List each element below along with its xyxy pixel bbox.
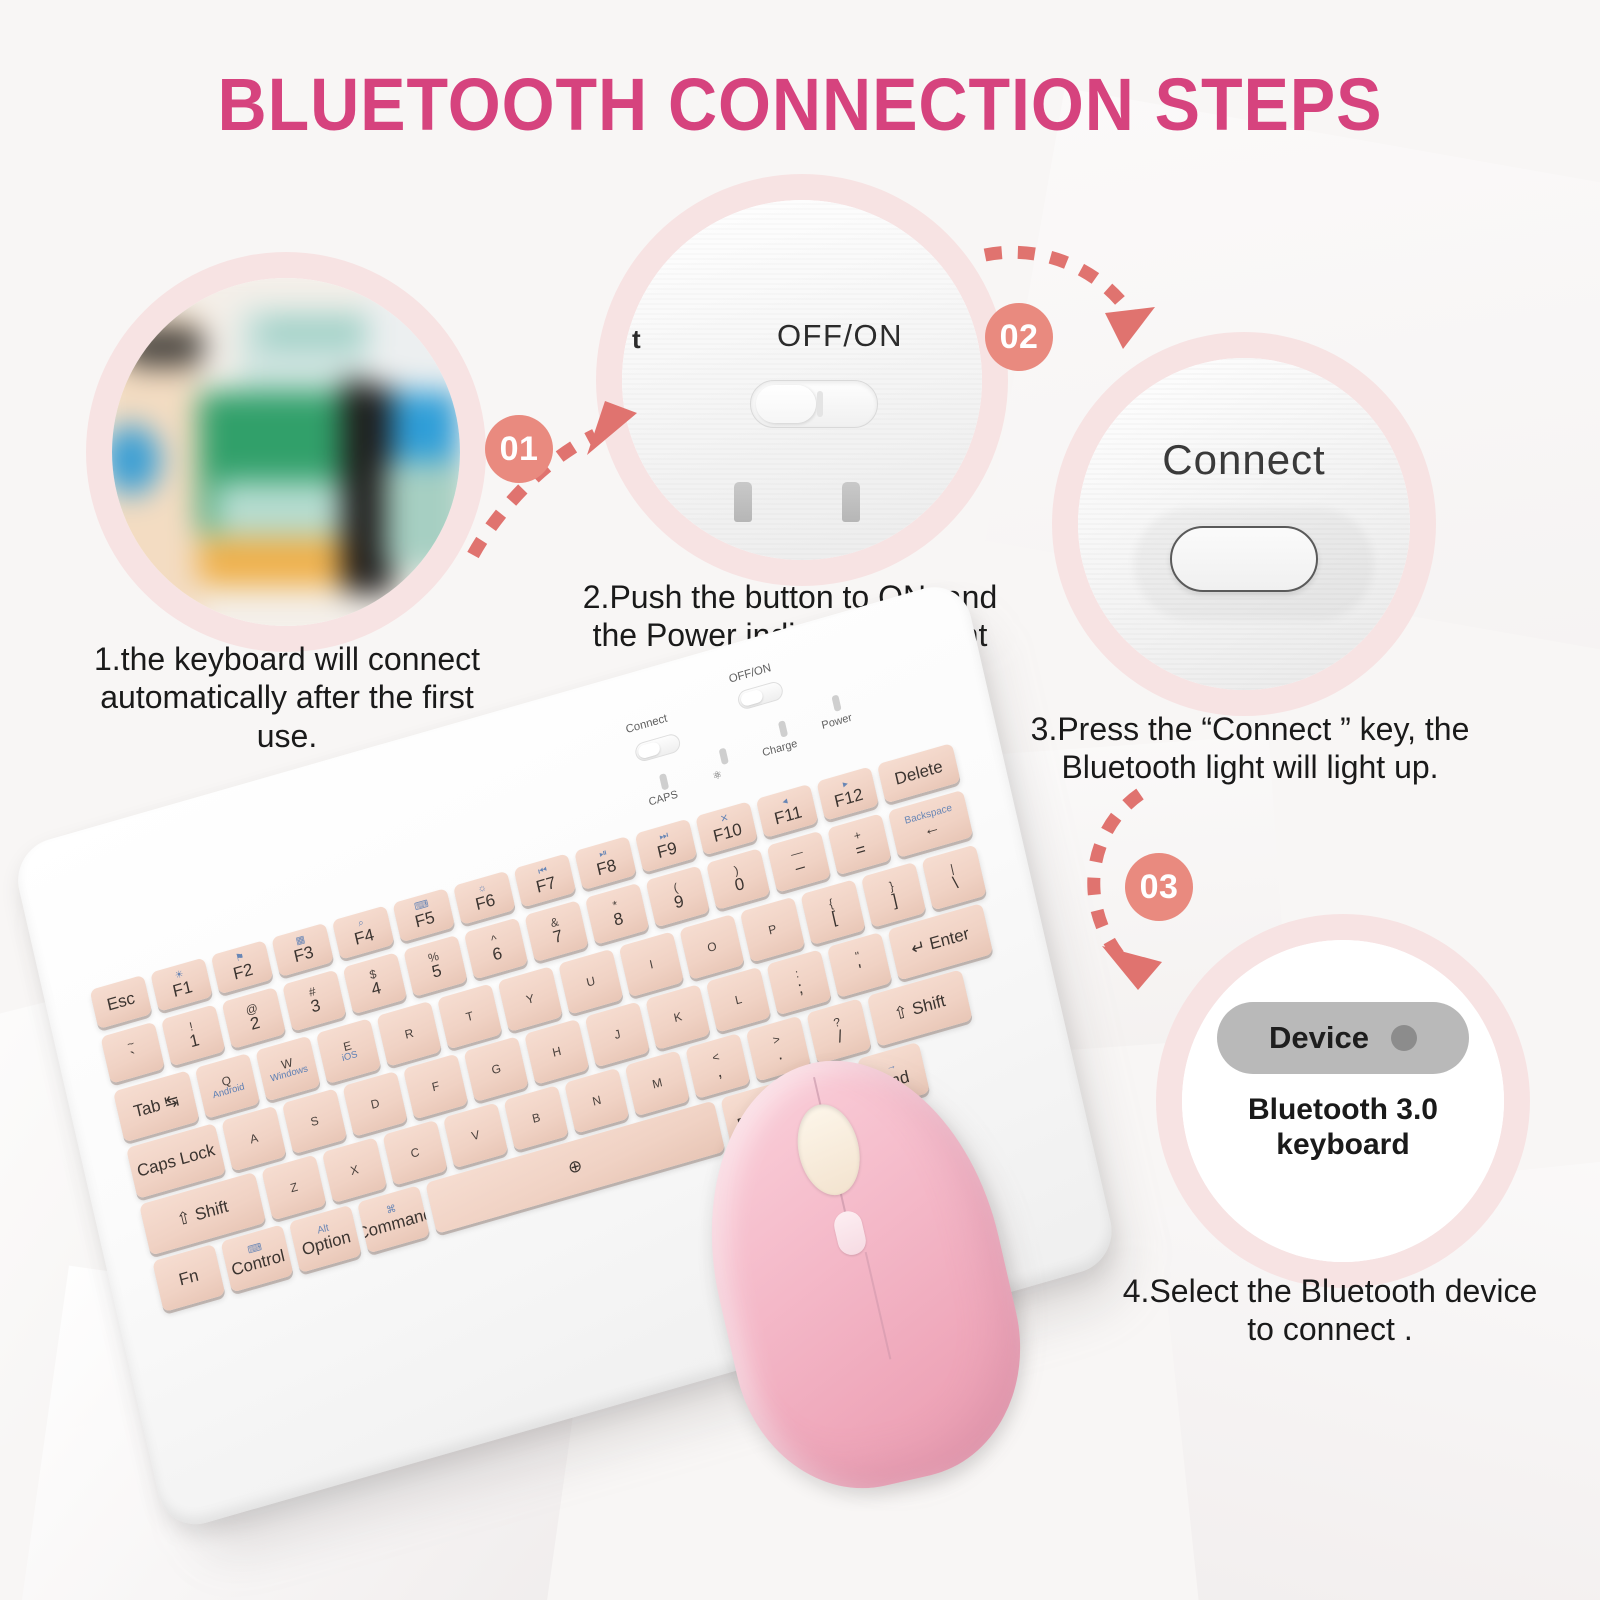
- key-legend-top: L: [734, 993, 743, 1007]
- key-legend-main: 7: [551, 927, 564, 947]
- step-4-caption: 4.Select the Bluetooth device to connect…: [1120, 1272, 1540, 1349]
- bluetooth-led: [719, 748, 729, 766]
- key-legend-main: Tab ↹: [132, 1091, 181, 1121]
- key-legend-top: A: [249, 1131, 260, 1145]
- key-legend-main: –: [794, 858, 807, 878]
- key-legend-main: 1: [188, 1031, 201, 1051]
- key-legend-top: O: [706, 940, 718, 955]
- key-legend-top: ": [854, 950, 861, 963]
- key-fn[interactable]: Fn: [152, 1244, 225, 1312]
- key-legend-main: F6: [474, 891, 497, 914]
- key-p[interactable]: P: [740, 897, 806, 963]
- key-legend-top: Y: [525, 992, 536, 1006]
- key-legend-top: ?: [832, 1015, 841, 1029]
- blurred-product-photo: [112, 278, 460, 626]
- key-legend-top: R: [404, 1026, 415, 1041]
- caps-led: [659, 773, 669, 791]
- key-legend-main: 2: [249, 1014, 262, 1034]
- key-legend-top: }: [888, 879, 895, 892]
- key-legend-main: ⇧ Shift: [892, 992, 947, 1024]
- key-legend-main: F9: [656, 839, 679, 862]
- key-legend-top: P: [767, 922, 778, 936]
- key-legend-main: .: [776, 1045, 785, 1064]
- key-legend-main: Caps Lock: [135, 1141, 216, 1181]
- key-legend-main: F7: [535, 874, 558, 897]
- key-legend-main: ;: [796, 979, 805, 998]
- offon-label: OFF/ON: [710, 318, 970, 354]
- key-legend-top: |: [949, 862, 955, 875]
- power-switch-knob[interactable]: [740, 688, 764, 707]
- mouse-seam: [865, 1252, 892, 1360]
- key-key[interactable]: {[: [800, 879, 866, 945]
- key-e[interactable]: EiOS: [316, 1018, 382, 1084]
- indicator-pin: [842, 482, 860, 522]
- power-switch[interactable]: [750, 380, 878, 428]
- key-6[interactable]: ^6: [464, 917, 529, 979]
- key-legend-top: J: [613, 1027, 622, 1041]
- step-3-caption: 3.Press the “Connect ” key, the Bluetoot…: [1015, 710, 1485, 787]
- key-legend-main: 5: [430, 962, 443, 982]
- device-name: Bluetooth 3.0 keyboard: [1182, 1092, 1504, 1163]
- key-key[interactable]: +=: [827, 813, 892, 875]
- keyboard-offon-label: OFF/ON: [728, 662, 772, 686]
- key-legend-main: Fn: [177, 1267, 200, 1290]
- key-legend-top: >: [772, 1033, 782, 1047]
- key-legend-main: ,: [715, 1063, 724, 1082]
- key-legend-main: 8: [612, 910, 625, 930]
- key-option[interactable]: AltOption: [289, 1205, 362, 1273]
- indicator-pin: [734, 482, 752, 522]
- step-3-connect-circle: Connect: [1078, 358, 1410, 690]
- switch-nub: [817, 391, 823, 417]
- key-legend-top: K: [673, 1010, 684, 1024]
- key-legend-top: !: [188, 1020, 194, 1033]
- key-legend-main: Esc: [105, 989, 136, 1014]
- key-legend-top: F: [431, 1079, 441, 1093]
- key-legend-top: ): [733, 864, 740, 877]
- key-legend-top: G: [490, 1062, 502, 1077]
- step-badge-02: 02: [985, 303, 1053, 371]
- key-legend-main: 0: [733, 875, 746, 895]
- arrow-step-1-to-2: [455, 395, 645, 575]
- key-9[interactable]: (9: [645, 865, 710, 927]
- key-s[interactable]: S: [282, 1088, 348, 1154]
- key-x[interactable]: X: [322, 1137, 388, 1203]
- key-legend-main: ': [857, 962, 864, 980]
- key-legend-main: [: [830, 909, 839, 928]
- key-legend-top: M: [651, 1076, 663, 1091]
- key-legend-top: <: [711, 1050, 721, 1064]
- key-r[interactable]: R: [376, 1001, 442, 1067]
- key-w[interactable]: WWindows: [255, 1035, 321, 1101]
- keyboard-power-switch[interactable]: [736, 680, 784, 711]
- key-c[interactable]: C: [382, 1120, 448, 1186]
- key-legend-main: \: [951, 874, 960, 893]
- step-2-switch-circle: t OFF/ON: [622, 200, 982, 560]
- key-command[interactable]: ⌘Command: [357, 1185, 430, 1253]
- key-key[interactable]: :;: [766, 949, 832, 1015]
- key-legend-top: *: [611, 898, 618, 912]
- key-legend-top: C: [409, 1145, 420, 1160]
- page-title: BLUETOOTH CONNECTION STEPS: [64, 62, 1536, 147]
- key-legend-main: `: [129, 1049, 138, 1068]
- key-legend-top: Z: [289, 1180, 299, 1194]
- key-k[interactable]: K: [645, 984, 711, 1050]
- key-v[interactable]: V: [443, 1102, 509, 1168]
- key-legend-top: @: [245, 1001, 260, 1017]
- infographic-page: BLUETOOTH CONNECTION STEPS t OFF/ON: [0, 0, 1600, 1600]
- key-0[interactable]: )0: [706, 848, 771, 910]
- key-legend-top: B: [531, 1111, 542, 1125]
- device-row[interactable]: Device: [1217, 1002, 1469, 1074]
- key-legend-top: (: [672, 881, 679, 894]
- key-legend-top: —: [790, 845, 804, 861]
- key-8[interactable]: *8: [585, 883, 650, 945]
- key-legend-top: ✕: [719, 813, 729, 826]
- key-legend-main: F3: [292, 944, 315, 967]
- charge-led: [778, 720, 788, 738]
- key-legend-main: F10: [712, 821, 744, 846]
- key-legend-main: F4: [353, 926, 376, 949]
- key-d[interactable]: D: [342, 1071, 408, 1137]
- device-name-line1: Bluetooth 3.0: [1248, 1093, 1438, 1126]
- bluetooth-icon: ⚛: [711, 768, 723, 783]
- key-legend-top: D: [369, 1097, 380, 1112]
- key-legend-main: Delete: [893, 758, 944, 789]
- key-t[interactable]: T: [437, 983, 503, 1049]
- keyboard-connect-label: Connect: [625, 713, 669, 737]
- key-legend-top: S: [309, 1114, 320, 1128]
- key-legend-top: ▸: [842, 779, 849, 791]
- key-legend-main: F1: [171, 978, 194, 1001]
- step-badge-01: 01: [485, 415, 553, 483]
- scroll-wheel[interactable]: [789, 1098, 868, 1201]
- key-legend-top: W: [280, 1056, 294, 1071]
- key-legend-top: ~: [126, 1037, 136, 1051]
- key-legend-top: ⌕: [357, 918, 365, 930]
- key-legend-top: I: [648, 958, 654, 971]
- dpi-button[interactable]: [831, 1209, 868, 1258]
- step-1-photo-circle: [112, 278, 460, 626]
- charge-label: Charge: [761, 738, 798, 760]
- key-j[interactable]: J: [585, 1001, 651, 1067]
- key-key[interactable]: ~`: [100, 1022, 165, 1084]
- key-legend-main: /: [836, 1028, 845, 1047]
- key-control[interactable]: ⌨Control: [220, 1224, 293, 1292]
- switch-knob[interactable]: [756, 385, 816, 423]
- power-label: Power: [820, 712, 853, 732]
- key-legend-main: ↵ Enter: [910, 925, 971, 959]
- keyboard-connect-key[interactable]: [633, 732, 681, 763]
- key-4[interactable]: $4: [343, 952, 408, 1014]
- key-2[interactable]: @2: [221, 987, 286, 1049]
- key-legend-top: $: [368, 967, 377, 981]
- connect-label: Connect: [1078, 436, 1410, 484]
- key-legend-main: F2: [232, 961, 255, 984]
- key-key[interactable]: }]: [861, 862, 927, 928]
- key-3[interactable]: #3: [282, 969, 347, 1031]
- key-legend-top: V: [470, 1128, 481, 1142]
- key-legend-main: ]: [891, 892, 900, 911]
- key-y[interactable]: Y: [497, 966, 563, 1032]
- key-u[interactable]: U: [558, 949, 624, 1015]
- key-legend-top: H: [551, 1044, 562, 1059]
- key-n[interactable]: N: [564, 1068, 630, 1134]
- key-7[interactable]: &7: [524, 900, 589, 962]
- key-g[interactable]: G: [463, 1036, 529, 1102]
- step-badge-03: 03: [1125, 853, 1193, 921]
- key-legend-top: N: [591, 1093, 602, 1108]
- key-a[interactable]: A: [221, 1106, 287, 1172]
- key-legend-top: E: [342, 1039, 353, 1053]
- key-key[interactable]: "': [827, 932, 893, 998]
- device-label: Device: [1269, 1020, 1369, 1056]
- key-legend-main: 3: [309, 997, 322, 1017]
- connect-key-cap[interactable]: [637, 741, 661, 760]
- arrow-head: [1105, 307, 1155, 349]
- device-status-dot: [1391, 1025, 1417, 1051]
- key-z[interactable]: Z: [261, 1154, 327, 1220]
- key-legend-main: F11: [773, 804, 804, 829]
- device-name-line2: keyboard: [1276, 1128, 1409, 1161]
- key-legend-top: &: [549, 915, 560, 929]
- key-o[interactable]: O: [679, 914, 745, 980]
- key-5[interactable]: %5: [403, 935, 468, 997]
- key-legend-top: {: [828, 897, 835, 910]
- power-led: [831, 694, 841, 712]
- key-legend-main: 4: [370, 979, 383, 999]
- key-l[interactable]: L: [706, 967, 772, 1033]
- key-legend-top: :: [794, 967, 800, 980]
- key-q[interactable]: QAndroid: [195, 1053, 261, 1119]
- key-legend-main: 6: [491, 945, 504, 965]
- key-legend-main: ⇧ Shift: [175, 1198, 230, 1230]
- key-legend-main: F8: [595, 857, 618, 880]
- key-1[interactable]: !1: [161, 1004, 226, 1066]
- connect-key-button[interactable]: [1170, 526, 1318, 592]
- key-legend-top: #: [308, 985, 317, 999]
- key-legend-main: =: [854, 840, 868, 860]
- key-legend-top: Q: [220, 1074, 232, 1089]
- key-f[interactable]: F: [403, 1053, 469, 1119]
- key-i[interactable]: I: [619, 931, 685, 997]
- arrow-head: [1102, 946, 1162, 990]
- key-legend-top: U: [585, 974, 596, 989]
- partial-text: t: [632, 324, 641, 355]
- key-key[interactable]: —–: [767, 831, 832, 893]
- key-legend-top: ^: [490, 933, 498, 947]
- key-legend-top: ⏯: [598, 848, 608, 860]
- key-legend-main: ⊕: [566, 1157, 584, 1178]
- key-legend-main: 9: [673, 893, 686, 913]
- key-legend-top: T: [465, 1009, 475, 1023]
- key-legend-top: ◂: [782, 796, 789, 808]
- key-key[interactable]: |\: [921, 844, 987, 910]
- key-legend-top: +: [853, 829, 863, 843]
- key-legend-top: %: [427, 950, 440, 965]
- key-b[interactable]: B: [503, 1085, 569, 1151]
- key-legend-top: X: [349, 1163, 360, 1177]
- key-h[interactable]: H: [524, 1019, 590, 1085]
- key-legend-main: F12: [833, 786, 865, 811]
- step-4-device-circle: Device Bluetooth 3.0 keyboard: [1182, 940, 1504, 1262]
